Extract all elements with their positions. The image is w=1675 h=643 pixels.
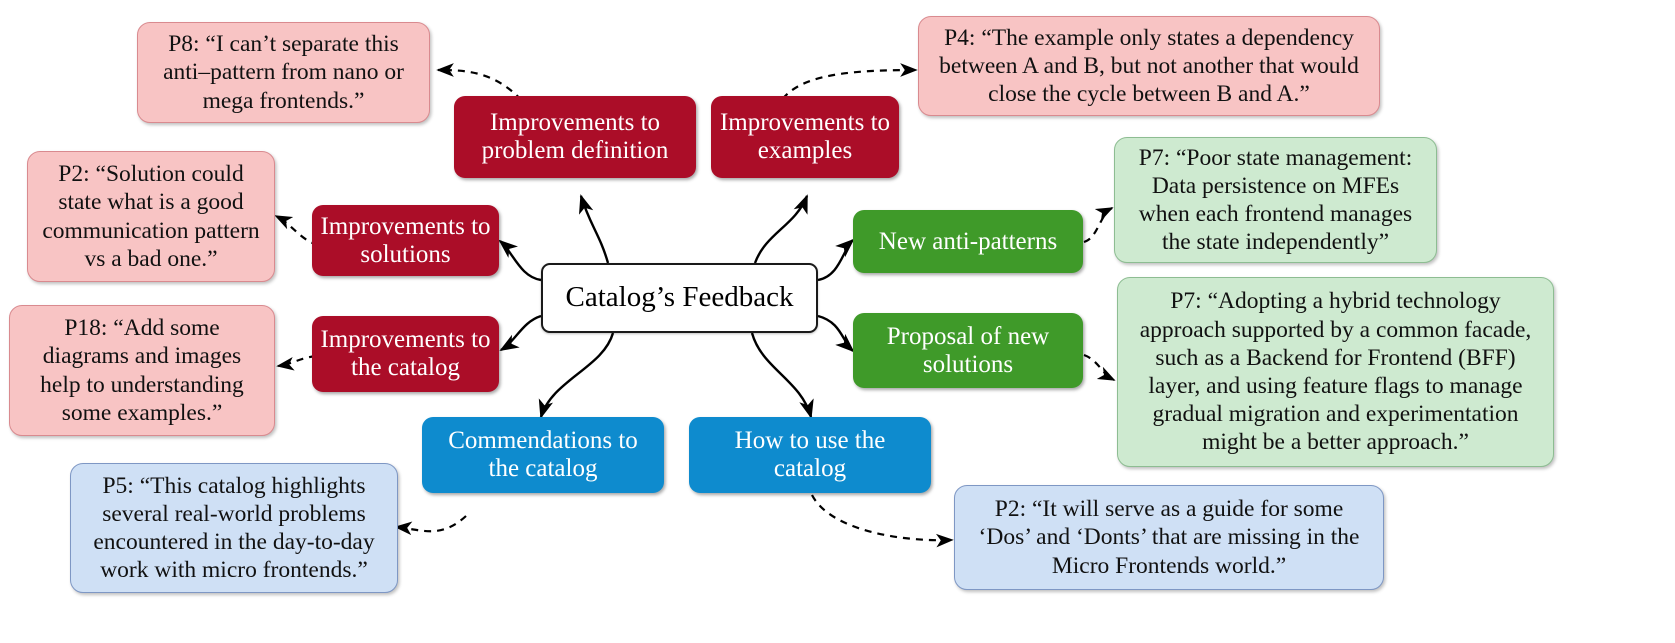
category-commendations-to-the-catalog[interactable]: Commendations to the catalog bbox=[422, 417, 664, 493]
edge-commendations-to-p5 bbox=[396, 516, 466, 531]
edge-to-new-anti-patterns bbox=[818, 240, 853, 280]
quote-p4[interactable]: P4: “The example only states a dependenc… bbox=[918, 16, 1380, 116]
center-node[interactable]: Catalog’s Feedback bbox=[541, 263, 818, 333]
quote-text: P8: “I can’t separate this anti–pattern … bbox=[138, 30, 429, 115]
quote-text: P7: “Poor state management: Data persist… bbox=[1115, 144, 1436, 257]
quote-p18[interactable]: P18: “Add some diagrams and images help … bbox=[9, 305, 275, 436]
category-new-anti-patterns[interactable]: New anti-patterns bbox=[853, 210, 1083, 273]
category-label: Commendations to the catalog bbox=[422, 427, 664, 483]
category-improvements-to-solutions[interactable]: Improvements to solutions bbox=[312, 205, 499, 276]
category-improvements-to-problem-definition[interactable]: Improvements to problem definition bbox=[454, 96, 696, 178]
quote-p2-guide[interactable]: P2: “It will serve as a guide for some ‘… bbox=[954, 485, 1384, 590]
category-proposal-of-new-solutions[interactable]: Proposal of new solutions bbox=[853, 313, 1083, 388]
edge-to-solutions bbox=[500, 241, 541, 280]
edge-to-examples bbox=[755, 196, 807, 263]
quote-text: P4: “The example only states a dependenc… bbox=[919, 24, 1379, 109]
edge-to-catalog bbox=[501, 316, 541, 350]
quote-text: P7: “Adopting a hybrid technology approa… bbox=[1118, 287, 1553, 456]
quote-p8[interactable]: P8: “I can’t separate this anti–pattern … bbox=[137, 22, 430, 123]
quote-text: P2: “It will serve as a guide for some ‘… bbox=[955, 495, 1383, 580]
center-node-label: Catalog’s Feedback bbox=[543, 281, 816, 314]
edge-catalog-to-p18 bbox=[278, 356, 316, 366]
category-improvements-to-examples[interactable]: Improvements to examples bbox=[711, 96, 899, 178]
edge-to-how-to-use bbox=[752, 333, 811, 417]
edge-new-solutions-to-p7-hybrid bbox=[1084, 355, 1114, 380]
quote-text: P18: “Add some diagrams and images help … bbox=[10, 314, 274, 427]
category-label: Proposal of new solutions bbox=[853, 323, 1083, 379]
category-label: Improvements to examples bbox=[711, 109, 899, 165]
category-label: Improvements to the catalog bbox=[312, 326, 499, 382]
category-label: New anti-patterns bbox=[853, 228, 1083, 256]
edge-how-to-use-to-p2-guide bbox=[812, 495, 952, 540]
edge-to-problem-definition bbox=[581, 196, 608, 263]
category-how-to-use-the-catalog[interactable]: How to use the catalog bbox=[689, 417, 931, 493]
quote-p7-state-management[interactable]: P7: “Poor state management: Data persist… bbox=[1114, 137, 1437, 263]
quote-p7-hybrid-technology[interactable]: P7: “Adopting a hybrid technology approa… bbox=[1117, 277, 1554, 467]
edge-to-new-solutions bbox=[818, 316, 853, 351]
category-label: Improvements to problem definition bbox=[454, 109, 696, 165]
category-label: Improvements to solutions bbox=[312, 213, 499, 269]
mindmap-canvas: Catalog’s Feedback Improvements to probl… bbox=[0, 0, 1675, 643]
quote-p2-solutions[interactable]: P2: “Solution could state what is a good… bbox=[27, 151, 275, 282]
quote-text: P5: “This catalog highlights several rea… bbox=[71, 472, 397, 585]
edge-anti-patterns-to-p7-state bbox=[1084, 208, 1112, 242]
category-label: How to use the catalog bbox=[689, 427, 931, 483]
quote-text: P2: “Solution could state what is a good… bbox=[28, 160, 274, 273]
edge-to-commendations bbox=[541, 333, 613, 417]
category-improvements-to-the-catalog[interactable]: Improvements to the catalog bbox=[312, 316, 499, 392]
quote-p5[interactable]: P5: “This catalog highlights several rea… bbox=[70, 463, 398, 593]
